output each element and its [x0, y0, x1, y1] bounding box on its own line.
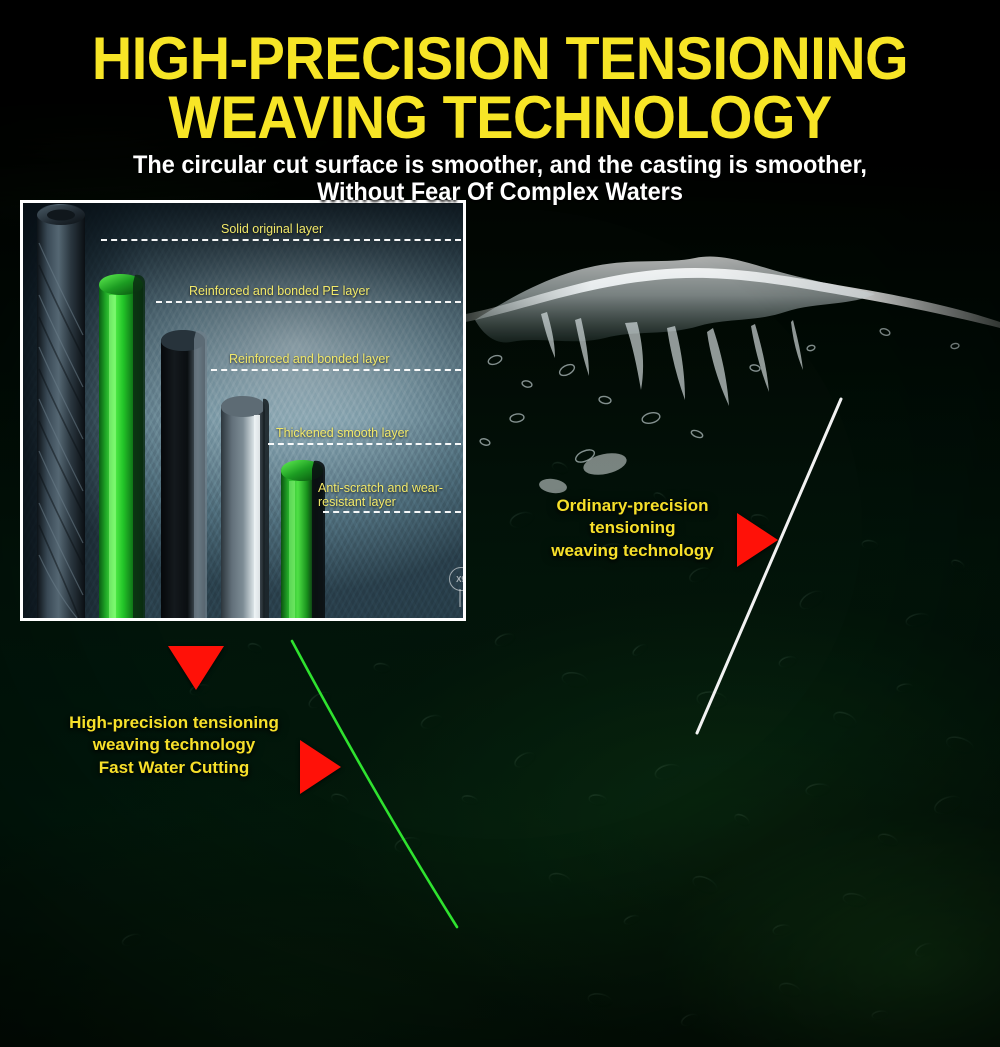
- callout-ordinary-line-1: Ordinary-precision: [525, 495, 740, 517]
- callout-high-precision: High-precision tensioning weaving techno…: [50, 712, 298, 779]
- watermark-badge: X9: [449, 567, 466, 591]
- callout-ordinary-line-2: tensioning: [525, 517, 740, 539]
- callout-high-line-3: Fast Water Cutting: [50, 757, 298, 779]
- label-solid-original-layer: Solid original layer: [221, 222, 323, 236]
- label-anti-scratch-wear-resistant-layer: Anti-scratch and wear-resistant layer: [318, 481, 458, 510]
- rod-illustrations: [23, 203, 463, 618]
- title-line-2: WEAVING TECHNOLOGY: [35, 89, 965, 148]
- arrow-down-high-precision-icon: [168, 646, 224, 690]
- subtitle-line-1: The circular cut surface is smoother, an…: [30, 152, 970, 179]
- title-line-1: HIGH-PRECISION TENSIONING: [35, 0, 965, 89]
- arrow-right-high-precision-icon: [300, 740, 341, 794]
- page-subtitle: The circular cut surface is smoother, an…: [30, 152, 970, 206]
- label-thickened-smooth-layer: Thickened smooth layer: [276, 426, 409, 440]
- dash-line-1: [101, 239, 461, 241]
- callout-ordinary-precision: Ordinary-precision tensioning weaving te…: [525, 495, 740, 562]
- label-reinforced-bonded-layer: Reinforced and bonded layer: [229, 352, 390, 366]
- subtitle-line-2: Without Fear Of Complex Waters: [30, 179, 970, 206]
- callout-high-line-2: weaving technology: [50, 734, 298, 756]
- watermark-stem: [459, 589, 461, 607]
- rod-3: [161, 330, 207, 618]
- rod-2: [99, 274, 145, 618]
- dash-line-3: [211, 369, 461, 371]
- header: HIGH-PRECISION TENSIONING WEAVING TECHNO…: [0, 0, 1000, 206]
- rod-1: [37, 204, 85, 618]
- callout-ordinary-line-3: weaving technology: [525, 540, 740, 562]
- dash-line-2: [156, 301, 461, 303]
- layer-structure-diagram: Solid original layer Reinforced and bond…: [20, 200, 466, 621]
- dash-line-5: [323, 511, 461, 513]
- dash-line-4: [268, 443, 461, 445]
- label-reinforced-bonded-pe-layer: Reinforced and bonded PE layer: [189, 284, 370, 298]
- rod-4: [221, 396, 269, 618]
- arrow-right-ordinary-icon: [737, 513, 778, 567]
- page-title: HIGH-PRECISION TENSIONING WEAVING TECHNO…: [35, 0, 965, 148]
- callout-high-line-1: High-precision tensioning: [50, 712, 298, 734]
- label-anti-scratch-line-1: Anti-scratch and: [318, 481, 408, 495]
- promo-banner: HIGH-PRECISION TENSIONING WEAVING TECHNO…: [0, 0, 1000, 1047]
